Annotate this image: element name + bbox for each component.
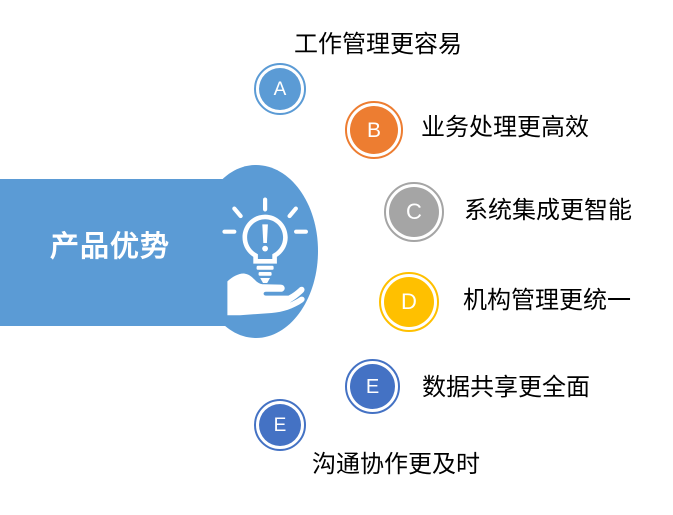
caption-e2: 沟通协作更及时 <box>312 450 480 479</box>
node-c-disc: C <box>389 187 439 237</box>
caption-a: 工作管理更容易 <box>294 30 462 59</box>
node-e2-disc: E <box>259 404 301 446</box>
caption-b: 业务处理更高效 <box>421 113 589 142</box>
node-e1[interactable]: E <box>345 359 400 414</box>
node-d[interactable]: D <box>379 272 439 332</box>
node-c[interactable]: C <box>384 182 444 242</box>
node-a-letter: A <box>274 80 287 99</box>
caption-d: 机构管理更统一 <box>463 286 631 315</box>
node-c-letter: C <box>406 201 422 223</box>
node-a[interactable]: A <box>254 63 306 115</box>
node-e1-letter: E <box>366 377 379 397</box>
node-e2-letter: E <box>274 416 287 435</box>
caption-e1: 数据共享更全面 <box>422 373 590 402</box>
banner-title: 产品优势 <box>22 232 198 264</box>
node-d-letter: D <box>401 291 417 313</box>
node-d-disc: D <box>384 277 434 327</box>
node-b-disc: B <box>350 106 398 154</box>
node-e1-disc: E <box>350 364 395 409</box>
node-e2[interactable]: E <box>254 399 306 451</box>
infographic-canvas: 产品优势 A 工作管理更容易 B 业务处理更高效 C 系统集成更智能 D 机构管… <box>0 0 673 515</box>
node-b[interactable]: B <box>345 101 403 159</box>
node-a-disc: A <box>259 68 301 110</box>
node-b-letter: B <box>367 120 381 141</box>
caption-c: 系统集成更智能 <box>464 196 632 225</box>
